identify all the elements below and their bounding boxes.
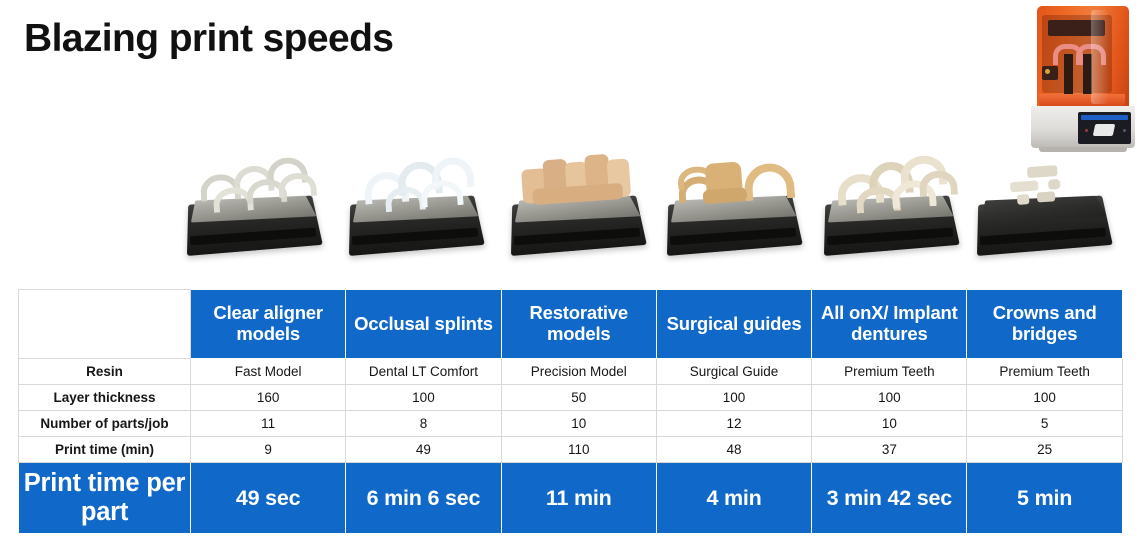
implant-dentures-photo	[817, 148, 972, 273]
column-header-crowns-and-bridges: Crowns and bridges	[967, 290, 1122, 359]
row-label-resin: Resin	[19, 359, 191, 385]
build-platform-handle	[712, 242, 738, 252]
cell-resin-5: Premium Teeth	[812, 359, 967, 385]
cell-time-per-part-1: 49 sec	[191, 463, 346, 534]
printer-screen-left-indicator-icon	[1085, 129, 1088, 132]
cell-time-per-part-2: 6 min 6 sec	[346, 463, 501, 534]
printed-parts	[518, 152, 637, 212]
table-corner-cell	[19, 290, 191, 359]
cell-print-time-6: 25	[967, 437, 1122, 463]
printed-parts	[984, 152, 1103, 212]
column-header-implant-dentures: All onX/ Implant dentures	[812, 290, 967, 359]
cell-print-time-5: 37	[812, 437, 967, 463]
page-title: Blazing print speeds	[24, 18, 393, 61]
cell-resin-6: Premium Teeth	[967, 359, 1122, 385]
build-platform-handle	[394, 242, 420, 252]
column-header-restorative-models: Restorative models	[501, 290, 656, 359]
table-total-row: Print time per part 49 sec 6 min 6 sec 1…	[19, 463, 1123, 534]
print-speeds-table: Clear aligner models Occlusal splints Re…	[18, 289, 1123, 534]
cell-layer-thickness-4: 100	[656, 385, 811, 411]
cell-parts-1: 11	[191, 411, 346, 437]
cell-time-per-part-6: 5 min	[967, 463, 1122, 534]
cell-print-time-4: 48	[656, 437, 811, 463]
printer-screen-right-indicator-icon	[1123, 129, 1126, 132]
printer-hood-highlight	[1091, 10, 1108, 104]
cell-layer-thickness-2: 100	[346, 385, 501, 411]
printer-resin-cartridge	[1042, 66, 1058, 80]
printed-parts	[194, 152, 313, 212]
surgical-guides-photo	[660, 148, 815, 273]
print-job-gallery	[180, 148, 1120, 273]
restorative-models-photo	[504, 148, 659, 273]
sla-3d-printer-image	[1031, 6, 1135, 154]
printed-parts	[831, 152, 950, 212]
cell-resin-1: Fast Model	[191, 359, 346, 385]
row-label-number-of-parts: Number of parts/job	[19, 411, 191, 437]
table-row: Layer thickness 160 100 50 100 100 100	[19, 385, 1123, 411]
clear-aligner-models-photo	[180, 148, 335, 273]
printer-hood-base	[1039, 94, 1125, 106]
cell-layer-thickness-3: 50	[501, 385, 656, 411]
table-header-row: Clear aligner models Occlusal splints Re…	[19, 290, 1123, 359]
printer-screen-statusbar	[1081, 115, 1128, 120]
cell-parts-6: 5	[967, 411, 1122, 437]
build-platform-handle	[232, 242, 258, 252]
row-label-print-time: Print time (min)	[19, 437, 191, 463]
column-header-occlusal-splints: Occlusal splints	[346, 290, 501, 359]
row-label-print-time-per-part: Print time per part	[19, 463, 191, 534]
cell-time-per-part-3: 11 min	[501, 463, 656, 534]
cell-parts-2: 8	[346, 411, 501, 437]
printer-screen-part-icon	[1093, 124, 1116, 136]
cell-parts-3: 10	[501, 411, 656, 437]
cell-resin-4: Surgical Guide	[656, 359, 811, 385]
cell-print-time-2: 49	[346, 437, 501, 463]
row-label-layer-thickness: Layer thickness	[19, 385, 191, 411]
column-header-clear-aligner-models: Clear aligner models	[191, 290, 346, 359]
printed-parts	[356, 152, 475, 212]
cell-parts-4: 12	[656, 411, 811, 437]
column-header-surgical-guides: Surgical guides	[656, 290, 811, 359]
cell-time-per-part-4: 4 min	[656, 463, 811, 534]
cell-time-per-part-5: 3 min 42 sec	[812, 463, 967, 534]
printer-cartridge-indicator-icon	[1045, 69, 1050, 74]
cell-layer-thickness-5: 100	[812, 385, 967, 411]
crowns-and-bridges-photo	[970, 148, 1125, 273]
build-platform-handle	[556, 242, 582, 252]
printer-post	[1064, 54, 1073, 96]
occlusal-splints-photo	[342, 148, 497, 273]
cell-print-time-1: 9	[191, 437, 346, 463]
table-row: Resin Fast Model Dental LT Comfort Preci…	[19, 359, 1123, 385]
printed-parts	[674, 152, 793, 212]
cell-resin-2: Dental LT Comfort	[346, 359, 501, 385]
table-row: Print time (min) 9 49 110 48 37 25	[19, 437, 1123, 463]
cell-print-time-3: 110	[501, 437, 656, 463]
cell-parts-5: 10	[812, 411, 967, 437]
cell-layer-thickness-6: 100	[967, 385, 1122, 411]
cell-resin-3: Precision Model	[501, 359, 656, 385]
build-platform-handle	[1022, 242, 1048, 252]
cell-layer-thickness-1: 160	[191, 385, 346, 411]
table-row: Number of parts/job 11 8 10 12 10 5	[19, 411, 1123, 437]
build-platform-handle	[869, 242, 895, 252]
